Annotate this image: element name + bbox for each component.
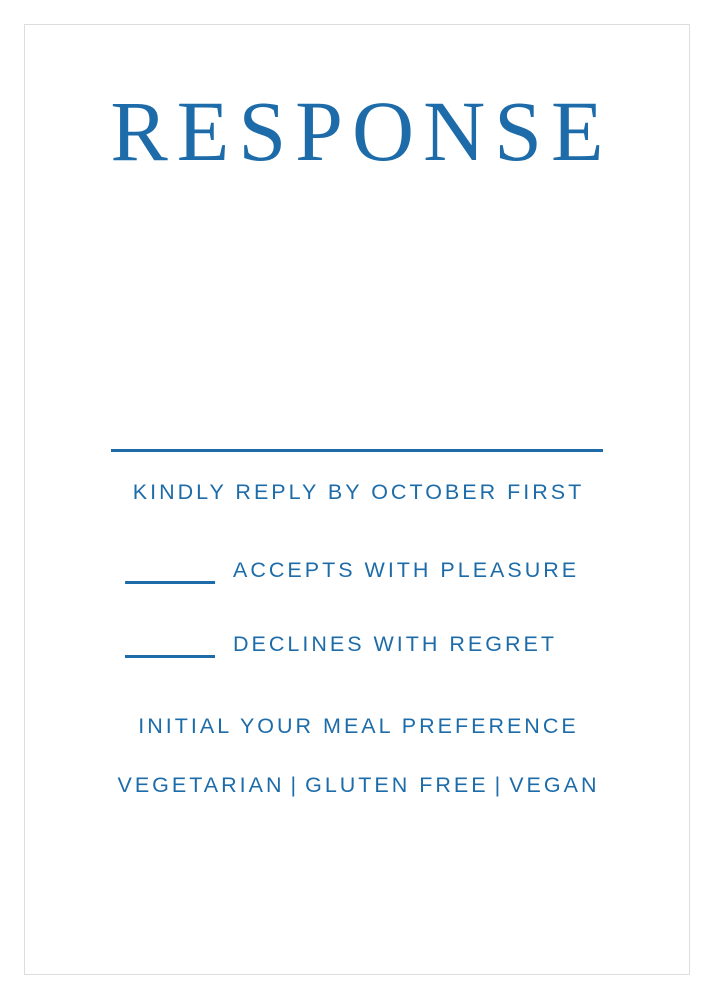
declines-label: DECLINES WITH REGRET bbox=[230, 631, 557, 657]
meal-option-separator-1: | bbox=[285, 773, 306, 797]
option-row-accepts[interactable]: ACCEPTS WITH PLEASURE bbox=[0, 557, 709, 583]
meal-option-gluten-free[interactable]: GLUTEN FREE bbox=[305, 773, 489, 797]
meal-options-row: VEGETARIAN|GLUTEN FREE|VEGAN bbox=[0, 739, 714, 798]
meal-option-vegetarian[interactable]: VEGETARIAN bbox=[118, 773, 285, 797]
declines-write-in-line[interactable] bbox=[125, 655, 215, 658]
reply-deadline-text: KINDLY REPLY BY OCTOBER FIRST bbox=[0, 452, 714, 505]
meal-option-vegan[interactable]: VEGAN bbox=[509, 773, 599, 797]
accepts-write-in-line[interactable] bbox=[125, 581, 215, 584]
page-title: RESPONSE bbox=[0, 88, 714, 174]
reply-section: KINDLY REPLY BY OCTOBER FIRST ACCEPTS WI… bbox=[0, 449, 714, 798]
meal-option-separator-2: | bbox=[489, 773, 510, 797]
accepts-label: ACCEPTS WITH PLEASURE bbox=[230, 557, 579, 583]
option-row-declines[interactable]: DECLINES WITH REGRET bbox=[0, 631, 698, 657]
rsvp-response-card: RESPONSE KINDLY REPLY BY OCTOBER FIRST A… bbox=[0, 0, 714, 999]
meal-preference-prompt: INITIAL YOUR MEAL PREFERENCE bbox=[0, 657, 714, 739]
